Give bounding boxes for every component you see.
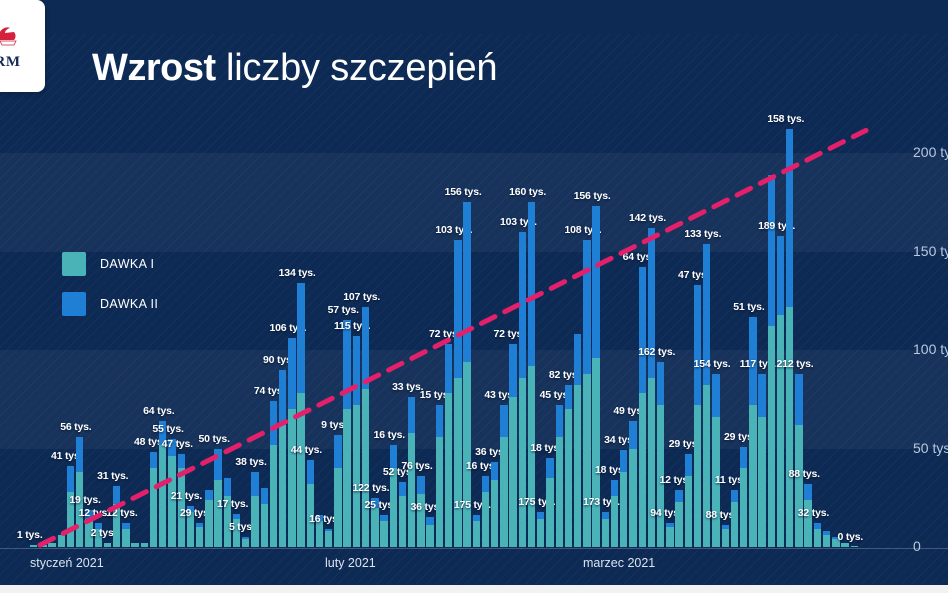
bar-segment-dawka-1 (270, 445, 277, 547)
bar-segment-dawka-2 (731, 490, 738, 502)
bar-segment-dawka-1 (325, 531, 332, 547)
bar-segment-dawka-2 (445, 344, 452, 393)
bar-segment-dawka-1 (537, 519, 544, 547)
bar-group[interactable] (463, 202, 470, 547)
bar-segment-dawka-2 (482, 476, 489, 492)
bar-segment-dawka-1 (546, 478, 553, 547)
bar-segment-dawka-1 (242, 539, 249, 547)
bar-segment-dawka-1 (795, 425, 802, 547)
bar-segment-dawka-1 (731, 502, 738, 547)
bar-segment-dawka-1 (196, 527, 203, 547)
legend-item-2[interactable]: DAWKA II (62, 292, 158, 316)
bar-value-label: 33 tys. (392, 381, 423, 393)
bar-segment-dawka-2 (768, 175, 775, 327)
bar-segment-dawka-1 (841, 543, 848, 547)
bar-segment-dawka-1 (390, 468, 397, 547)
legend-swatch-icon (62, 292, 86, 316)
bar-group[interactable] (131, 543, 138, 547)
bar-segment-dawka-1 (251, 496, 258, 547)
bar-group[interactable] (224, 478, 231, 547)
bar-group[interactable] (390, 445, 397, 547)
bar-group[interactable] (675, 490, 682, 547)
bar-group[interactable] (205, 490, 212, 547)
bar-segment-dawka-2 (722, 525, 729, 529)
bar-segment-dawka-2 (150, 452, 157, 468)
bar-segment-dawka-1 (768, 326, 775, 547)
bar-group[interactable] (288, 338, 295, 547)
bar-segment-dawka-2 (288, 338, 295, 409)
bar-value-label: 76 tys. (401, 460, 432, 472)
bar-group[interactable] (196, 523, 203, 547)
bar-segment-dawka-1 (343, 409, 350, 547)
bar-group[interactable] (48, 543, 55, 547)
bar-segment-dawka-2 (611, 480, 618, 496)
bar-segment-dawka-2 (592, 206, 599, 358)
bar-segment-dawka-1 (334, 468, 341, 547)
bar-group[interactable] (509, 344, 516, 547)
bar-group[interactable] (556, 405, 563, 547)
bar-group[interactable] (731, 490, 738, 547)
bar-group[interactable] (242, 537, 249, 547)
bar-segment-dawka-2 (454, 240, 461, 378)
bar-group[interactable] (851, 546, 858, 548)
bar-group[interactable] (602, 512, 609, 547)
bar-segment-dawka-1 (620, 472, 627, 547)
bar-group[interactable] (58, 535, 65, 547)
bar-segment-dawka-1 (758, 417, 765, 547)
bar-segment-dawka-1 (380, 521, 387, 547)
bar-segment-dawka-1 (261, 504, 268, 547)
bar-segment-dawka-2 (519, 232, 526, 378)
bar-segment-dawka-2 (583, 240, 590, 374)
bar-segment-dawka-1 (39, 545, 46, 547)
bar-segment-dawka-1 (426, 525, 433, 547)
bar-group[interactable] (620, 450, 627, 547)
bar-group[interactable] (537, 512, 544, 547)
bar-group[interactable] (841, 543, 848, 547)
bar-group[interactable] (795, 374, 802, 547)
bar-segment-dawka-1 (141, 543, 148, 547)
x-tick-1: luty 2021 (325, 556, 376, 570)
bar-segment-dawka-2 (786, 129, 793, 306)
bar-value-label: 44 tys. (291, 444, 322, 456)
bar-segment-dawka-2 (795, 374, 802, 425)
bar-group[interactable] (307, 460, 314, 547)
bar-segment-dawka-1 (777, 315, 784, 547)
bar-value-label: 107 tys. (343, 291, 380, 303)
bar-segment-dawka-2 (574, 334, 581, 385)
bar-segment-dawka-1 (823, 535, 830, 547)
bar-segment-dawka-2 (500, 405, 507, 437)
bar-segment-dawka-2 (233, 514, 240, 520)
bar-group[interactable] (786, 129, 793, 547)
bar-value-label: 19 tys. (69, 494, 100, 506)
bar-group[interactable] (270, 401, 277, 547)
legend-label: DAWKA I (100, 257, 154, 271)
bar-group[interactable] (67, 466, 74, 547)
bar-segment-dawka-1 (786, 307, 793, 547)
bar-segment-dawka-1 (353, 405, 360, 547)
bar-segment-dawka-1 (509, 397, 516, 547)
bar-segment-dawka-1 (611, 496, 618, 547)
bar-segment-dawka-1 (214, 480, 221, 547)
bar-value-label: 47 tys. (162, 438, 193, 450)
bar-segment-dawka-1 (205, 500, 212, 547)
bar-segment-dawka-1 (463, 362, 470, 547)
bar-group[interactable] (261, 488, 268, 547)
bar-segment-dawka-2 (408, 397, 415, 432)
bar-segment-dawka-2 (399, 482, 406, 496)
bar-segment-dawka-1 (648, 378, 655, 547)
bar-value-label: 122 tys. (352, 482, 389, 494)
bar-segment-dawka-1 (851, 546, 858, 548)
bar-segment-dawka-1 (371, 508, 378, 547)
bar-segment-dawka-2 (214, 449, 221, 481)
bar-group[interactable] (777, 236, 784, 547)
bar-group[interactable] (473, 515, 480, 547)
bar-segment-dawka-2 (76, 437, 83, 472)
bar-segment-dawka-1 (740, 468, 747, 547)
bar-segment-dawka-2 (823, 531, 830, 535)
bottom-strip (0, 585, 948, 593)
bar-value-label: 158 tys. (767, 113, 804, 125)
bar-segment-dawka-1 (48, 543, 55, 547)
bar-group[interactable] (629, 421, 636, 547)
legend-swatch-icon (62, 252, 86, 276)
bar-segment-dawka-2 (556, 405, 563, 437)
bar-group[interactable] (408, 397, 415, 547)
bar-segment-dawka-2 (205, 490, 212, 500)
bar-segment-dawka-1 (436, 437, 443, 547)
bar-value-label: 156 tys. (445, 186, 482, 198)
bar-segment-dawka-2 (639, 267, 646, 393)
bar-group[interactable] (104, 543, 111, 547)
bar-segment-dawka-1 (519, 378, 526, 547)
bar-segment-dawka-1 (675, 502, 682, 547)
bar-value-label: 142 tys. (629, 212, 666, 224)
bar-segment-dawka-2 (694, 285, 701, 405)
bar-value-label: 133 tys. (684, 228, 721, 240)
bar-group[interactable] (574, 334, 581, 547)
bar-group[interactable] (823, 531, 830, 547)
bar-segment-dawka-1 (279, 425, 286, 547)
bar-segment-dawka-2 (537, 512, 544, 520)
bar-segment-dawka-2 (279, 370, 286, 425)
bar-value-label: 21 tys. (171, 490, 202, 502)
bar-segment-dawka-1 (749, 405, 756, 547)
bar-segment-dawka-2 (343, 320, 350, 409)
bar-value-label: 134 tys. (279, 267, 316, 279)
x-tick-2: marzec 2021 (583, 556, 655, 570)
bar-group[interactable] (380, 515, 387, 547)
bar-segment-dawka-2 (297, 283, 304, 393)
bar-segment-dawka-2 (620, 450, 627, 472)
bar-segment-dawka-2 (675, 490, 682, 502)
bar-group[interactable] (445, 344, 452, 547)
bar-segment-dawka-1 (159, 445, 166, 547)
bar-segment-dawka-1 (104, 543, 111, 547)
bar-segment-dawka-1 (445, 393, 452, 547)
bar-value-label: 32 tys. (798, 507, 829, 519)
bar-segment-dawka-2 (629, 421, 636, 449)
bar-segment-dawka-1 (565, 409, 572, 547)
bar-segment-dawka-1 (814, 529, 821, 547)
bar-group[interactable] (30, 545, 37, 547)
bar-segment-dawka-1 (150, 468, 157, 547)
bar-group[interactable] (749, 317, 756, 547)
bar-value-label: 56 tys. (60, 421, 91, 433)
bar-value-label: 212 tys. (777, 358, 814, 370)
y-tick-1: 50 tys. (913, 440, 946, 456)
bar-value-label: 156 tys. (574, 190, 611, 202)
bar-group[interactable] (611, 480, 618, 547)
bar-segment-dawka-2 (325, 529, 332, 531)
y-tick-2: 100 tys. (913, 341, 946, 357)
bar-group[interactable] (639, 267, 646, 547)
bar-value-label: 17 tys. (217, 498, 248, 510)
bar-segment-dawka-1 (574, 385, 581, 547)
bar-segment-dawka-2 (417, 476, 424, 494)
bar-value-label: 162 tys. (638, 346, 675, 358)
bar-group[interactable] (648, 228, 655, 547)
y-tick-3: 150 tys. (913, 243, 946, 259)
bar-segment-dawka-2 (666, 523, 673, 527)
bar-group[interactable] (436, 405, 443, 547)
bar-segment-dawka-2 (353, 336, 360, 405)
x-axis-line (0, 548, 948, 549)
y-tick-4: 200 tys. (913, 144, 946, 160)
bar-segment-dawka-2 (270, 401, 277, 444)
bar-group[interactable] (666, 523, 673, 547)
legend-item-1[interactable]: DAWKA I (62, 252, 158, 276)
bar-segment-dawka-1 (399, 496, 406, 547)
bar-segment-dawka-1 (491, 480, 498, 547)
bar-segment-dawka-1 (408, 433, 415, 547)
bar-segment-dawka-2 (196, 523, 203, 527)
bar-group[interactable] (500, 405, 507, 547)
bar-value-label: 31 tys. (97, 470, 128, 482)
bar-value-label: 64 tys. (143, 405, 174, 417)
bar-value-label: 1 tys. (17, 529, 43, 541)
bar-segment-dawka-2 (67, 466, 74, 492)
bar-segment-dawka-2 (224, 478, 231, 496)
bar-segment-dawka-2 (685, 454, 692, 476)
bar-group[interactable] (758, 374, 765, 547)
bar-value-label: 160 tys. (509, 186, 546, 198)
bar-segment-dawka-2 (113, 486, 120, 504)
bar-segment-dawka-2 (758, 374, 765, 417)
bar-group[interactable] (150, 452, 157, 547)
bar-value-label: 55 tys. (152, 423, 183, 435)
bar-segment-dawka-1 (297, 393, 304, 547)
bar-segment-dawka-1 (583, 374, 590, 547)
bar-segment-dawka-2 (565, 385, 572, 409)
chart-legend: DAWKA IDAWKA II (62, 252, 158, 332)
bar-segment-dawka-2 (307, 460, 314, 484)
bar-segment-dawka-1 (629, 449, 636, 548)
bar-segment-dawka-1 (694, 405, 701, 547)
bar-segment-dawka-2 (436, 405, 443, 437)
bar-segment-dawka-1 (685, 476, 692, 547)
bar-group[interactable] (685, 454, 692, 547)
bar-group[interactable] (703, 244, 710, 547)
bar-segment-dawka-2 (657, 362, 664, 405)
bar-segment-dawka-2 (491, 462, 498, 480)
chart-canvas: RM Wzrost liczby szczepień 1 tys.41 tys.… (0, 0, 948, 593)
bar-value-label: 51 tys. (733, 301, 764, 313)
bar-segment-dawka-2 (740, 447, 747, 469)
bar-segment-dawka-2 (509, 344, 516, 397)
bar-group[interactable] (740, 447, 747, 547)
bar-segment-dawka-2 (261, 488, 268, 504)
bar-segment-dawka-1 (703, 385, 710, 547)
bar-segment-dawka-2 (546, 458, 553, 478)
bar-segment-dawka-2 (390, 445, 397, 469)
bar-segment-dawka-2 (334, 435, 341, 468)
bar-segment-dawka-1 (639, 393, 646, 547)
bar-segment-dawka-2 (178, 454, 185, 468)
bar-group[interactable] (491, 462, 498, 547)
bar-segment-dawka-1 (556, 437, 563, 547)
legend-label: DAWKA II (100, 297, 158, 311)
bar-segment-dawka-2 (362, 307, 369, 390)
bar-group[interactable] (399, 482, 406, 547)
bar-group[interactable] (297, 283, 304, 547)
bar-group[interactable] (334, 435, 341, 547)
bar-segment-dawka-1 (362, 389, 369, 547)
bar-group[interactable] (565, 385, 572, 547)
bar-segment-dawka-2 (777, 236, 784, 315)
bar-segment-dawka-2 (463, 202, 470, 362)
bar-segment-dawka-1 (473, 521, 480, 547)
bar-segment-dawka-1 (722, 529, 729, 547)
bar-group[interactable] (426, 517, 433, 547)
bar-segment-dawka-1 (602, 519, 609, 547)
bar-value-label: 38 tys. (235, 456, 266, 468)
bar-segment-dawka-1 (58, 535, 65, 547)
bar-segment-dawka-1 (454, 378, 461, 547)
bar-segment-dawka-1 (30, 545, 37, 547)
bar-segment-dawka-1 (122, 529, 129, 547)
bar-segment-dawka-2 (712, 374, 719, 417)
bar-group[interactable] (814, 523, 821, 547)
bar-segment-dawka-2 (251, 472, 258, 496)
bar-segment-dawka-2 (242, 537, 249, 539)
y-tick-0: 0 (913, 538, 946, 554)
bar-segment-dawka-2 (528, 202, 535, 366)
bar-value-label: 0 tys. (837, 531, 863, 543)
bar-group[interactable] (694, 285, 701, 547)
bar-segment-dawka-2 (814, 523, 821, 529)
bar-group[interactable] (343, 320, 350, 547)
bar-value-label: 16 tys. (374, 429, 405, 441)
bar-group[interactable] (722, 525, 729, 547)
bar-segment-dawka-1 (592, 358, 599, 547)
bar-value-label: 57 tys. (328, 304, 359, 316)
bar-group[interactable] (251, 472, 258, 547)
bar-segment-dawka-2 (426, 517, 433, 525)
bar-value-label: 50 tys. (199, 433, 230, 445)
bar-group[interactable] (546, 458, 553, 547)
bar-segment-dawka-2 (473, 515, 480, 521)
bar-group[interactable] (39, 545, 46, 547)
bar-group[interactable] (325, 529, 332, 547)
bar-group[interactable] (76, 437, 83, 547)
bar-value-label: 12 tys. (106, 507, 137, 519)
bar-value-label: 154 tys. (694, 358, 731, 370)
bar-segment-dawka-2 (602, 512, 609, 520)
bar-segment-dawka-1 (528, 366, 535, 547)
bar-value-label: 88 tys. (789, 468, 820, 480)
bar-group[interactable] (353, 336, 360, 547)
bar-segment-dawka-1 (131, 543, 138, 547)
bar-segment-dawka-1 (666, 527, 673, 547)
bar-group[interactable] (141, 543, 148, 547)
bar-segment-dawka-2 (804, 484, 811, 500)
bar-segment-dawka-2 (122, 523, 129, 529)
bar-group[interactable] (279, 370, 286, 547)
bar-group[interactable] (122, 523, 129, 547)
x-tick-0: styczeń 2021 (30, 556, 104, 570)
bar-group[interactable] (482, 476, 489, 547)
bar-segment-dawka-1 (288, 409, 295, 547)
bar-segment-dawka-1 (500, 437, 507, 547)
bar-segment-dawka-2 (380, 515, 387, 521)
bar-segment-dawka-1 (482, 492, 489, 547)
